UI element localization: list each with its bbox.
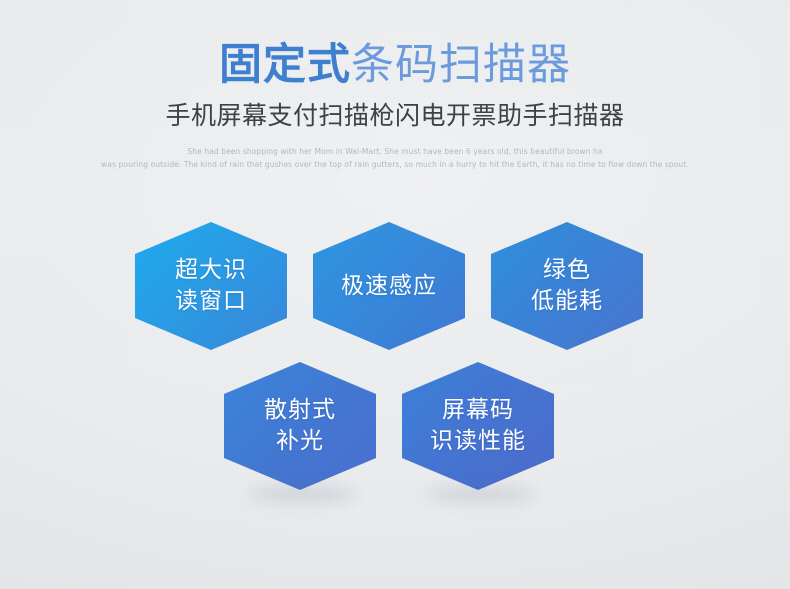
page-title: 固定式条码扫描器 bbox=[0, 40, 790, 90]
page-title-light: 条码扫描器 bbox=[351, 40, 571, 90]
feature-label: 屏幕码 识读性能 bbox=[430, 395, 526, 457]
feature-label: 绿色 低能耗 bbox=[531, 255, 603, 317]
feature-hexagon-green-low-power[interactable]: 绿色 低能耗 bbox=[491, 222, 643, 350]
description-line-1: She had been shopping with her Mom in Wa… bbox=[85, 145, 705, 158]
description-line-2: was pouring outside. The kind of rain th… bbox=[85, 158, 705, 171]
header-block: 固定式条码扫描器 手机屏幕支付扫描枪闪电开票助手扫描器 She had been… bbox=[0, 0, 790, 171]
feature-hexagon-diffuse-fill-light[interactable]: 散射式 补光 bbox=[224, 362, 376, 490]
feature-hexagon-oversized-reading-window[interactable]: 超大识 读窗口 bbox=[135, 222, 287, 350]
hexagon-shadow bbox=[248, 486, 356, 502]
feature-hexagon-screen-code-reading[interactable]: 屏幕码 识读性能 bbox=[402, 362, 554, 490]
page-subtitle: 手机屏幕支付扫描枪闪电开票助手扫描器 bbox=[0, 101, 790, 131]
feature-label: 超大识 读窗口 bbox=[175, 255, 247, 317]
page-title-strong: 固定式 bbox=[219, 40, 351, 90]
feature-hexagon-ultra-fast-sensing[interactable]: 极速感应 bbox=[313, 222, 465, 350]
promo-banner-page: 固定式条码扫描器 手机屏幕支付扫描枪闪电开票助手扫描器 She had been… bbox=[0, 0, 790, 589]
feature-label: 散射式 补光 bbox=[264, 395, 336, 457]
feature-label: 极速感应 bbox=[341, 271, 437, 302]
description-paragraph: She had been shopping with her Mom in Wa… bbox=[85, 145, 705, 171]
hexagon-shadow bbox=[426, 486, 534, 502]
